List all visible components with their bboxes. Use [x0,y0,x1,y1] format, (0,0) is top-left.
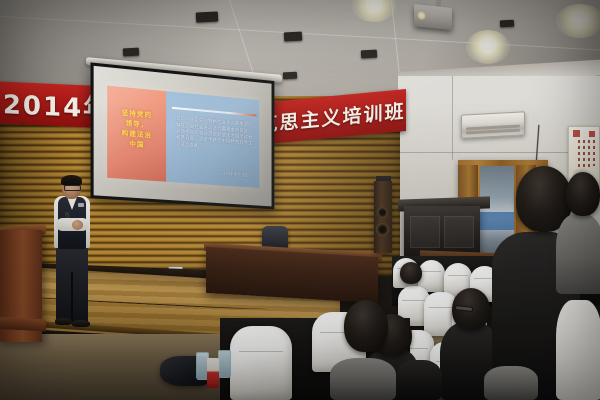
slide-body-text: 党的领导是中国特色社会主义最本质的特征，是社会主义法治最根本的保证。必须把党的领… [176,116,252,154]
scroll-text-column [583,140,585,170]
scroll-text-column [578,140,580,170]
screen-surface: 坚持党的 领导， 构建法治 中国 党的领导是中国特色社会主义最本质的特征，是社会… [94,66,272,207]
water-bottle [207,358,219,388]
slide-attribution-text: ——《四中全会决定》 [214,170,252,179]
tower-loudspeaker [374,181,392,253]
slide-left-panel: 坚持党的 领导， 构建法治 中国 [107,85,167,182]
scroll-seal [573,130,580,137]
presenter-shoe [72,320,90,327]
wall-seam [452,76,453,160]
presenter-leg-separation [71,272,73,324]
water-bottle [218,350,231,378]
chair-cover [230,326,292,400]
audience-torso [330,358,396,400]
presenter-glasses [64,185,81,191]
audience-head [344,300,388,352]
presenter-hand [72,220,83,230]
lecture-hall-photo: 2014年 克思主义培训班 坚持党的 领导， 构建法治 中国 党的领导是中国特色… [0,0,600,400]
slide-title-text: 坚持党的 领导， 构建法治 中国 [107,106,167,152]
audience-torso [396,360,442,400]
presenter-pocket-square [78,203,84,207]
audience-head [566,172,600,216]
scroll-seal [589,131,595,137]
audience-head [400,262,422,284]
banner-right-text: 克思主义培训班 [258,97,406,138]
air-conditioner [461,111,525,138]
cable-anchor [150,268,162,275]
doorway-blue-panel [480,212,514,230]
speaker-cone [377,207,388,218]
audience-torso [484,366,538,400]
audience-torso [556,300,600,400]
piano-front-panel [444,216,474,248]
piano-front-panel [410,216,440,248]
podium-base [0,317,46,332]
presentation-slide: 坚持党的 领导， 构建法治 中国 党的领导是中国特色社会主义最本质的特征，是社会… [107,85,260,188]
slide-right-panel: 党的领导是中国特色社会主义最本质的特征，是社会主义法治最根本的保证。必须把党的领… [167,91,260,189]
audience-torso [556,214,600,294]
scroll-text-column [588,140,590,170]
slide-divider-rule [172,107,256,116]
presenter-shoe [55,318,72,325]
scroll-text-column [593,140,595,166]
projection-screen: 坚持党的 领导， 构建法治 中国 党的领导是中国特色社会主义最本质的特征，是社会… [91,62,275,209]
speaker-cone [376,223,389,236]
